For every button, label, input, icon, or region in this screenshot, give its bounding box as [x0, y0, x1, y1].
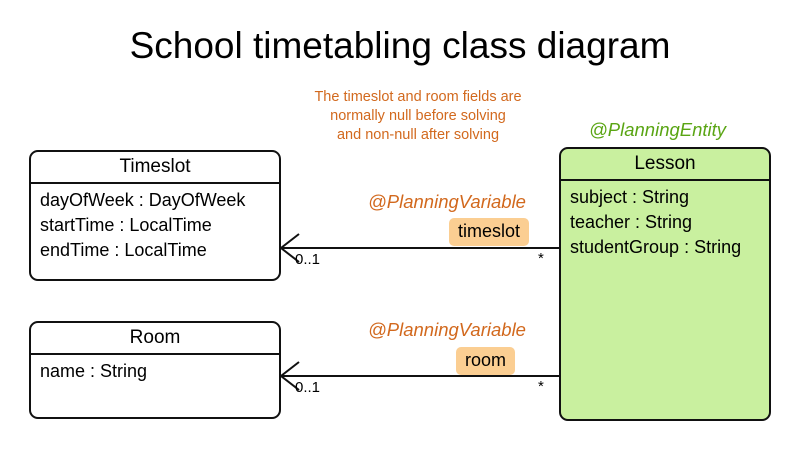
class-attributes-lesson: subject : String teacher : String studen…: [561, 181, 769, 260]
association-role-timeslot: timeslot: [449, 218, 529, 246]
class-diagram-canvas: School timetabling class diagram The tim…: [0, 0, 800, 450]
class-attribute: studentGroup : String: [570, 235, 769, 260]
diagram-note: The timeslot and room fields are normall…: [268, 88, 568, 145]
class-name-lesson: Lesson: [561, 149, 769, 179]
multiplicity-room-target: 0..1: [295, 379, 320, 396]
class-name-room: Room: [31, 323, 279, 353]
class-box-lesson[interactable]: Lesson subject : String teacher : String…: [559, 147, 771, 421]
association-role-room: room: [456, 347, 515, 375]
class-attribute: name : String: [40, 359, 279, 384]
diagram-note-line-1: The timeslot and room fields are: [268, 88, 568, 107]
diagram-note-line-2: normally null before solving: [268, 107, 568, 126]
multiplicity-timeslot-source: *: [538, 250, 544, 267]
class-attributes-room: name : String: [31, 355, 279, 384]
class-attributes-timeslot: dayOfWeek : DayOfWeek startTime : LocalT…: [31, 184, 279, 263]
multiplicity-timeslot-target: 0..1: [295, 251, 320, 268]
class-name-timeslot: Timeslot: [31, 152, 279, 182]
class-attribute: startTime : LocalTime: [40, 213, 279, 238]
multiplicity-room-source: *: [538, 378, 544, 395]
class-box-room[interactable]: Room name : String: [29, 321, 281, 419]
stereotype-planning-entity: @PlanningEntity: [589, 119, 726, 141]
stereotype-planning-variable-room: @PlanningVariable: [368, 319, 526, 341]
stereotype-planning-variable-timeslot: @PlanningVariable: [368, 191, 526, 213]
class-box-timeslot[interactable]: Timeslot dayOfWeek : DayOfWeek startTime…: [29, 150, 281, 281]
page-title: School timetabling class diagram: [0, 24, 800, 68]
class-attribute: dayOfWeek : DayOfWeek: [40, 188, 279, 213]
class-attribute: teacher : String: [570, 210, 769, 235]
diagram-note-line-3: and non-null after solving: [268, 126, 568, 145]
class-attribute: subject : String: [570, 185, 769, 210]
class-attribute: endTime : LocalTime: [40, 238, 279, 263]
